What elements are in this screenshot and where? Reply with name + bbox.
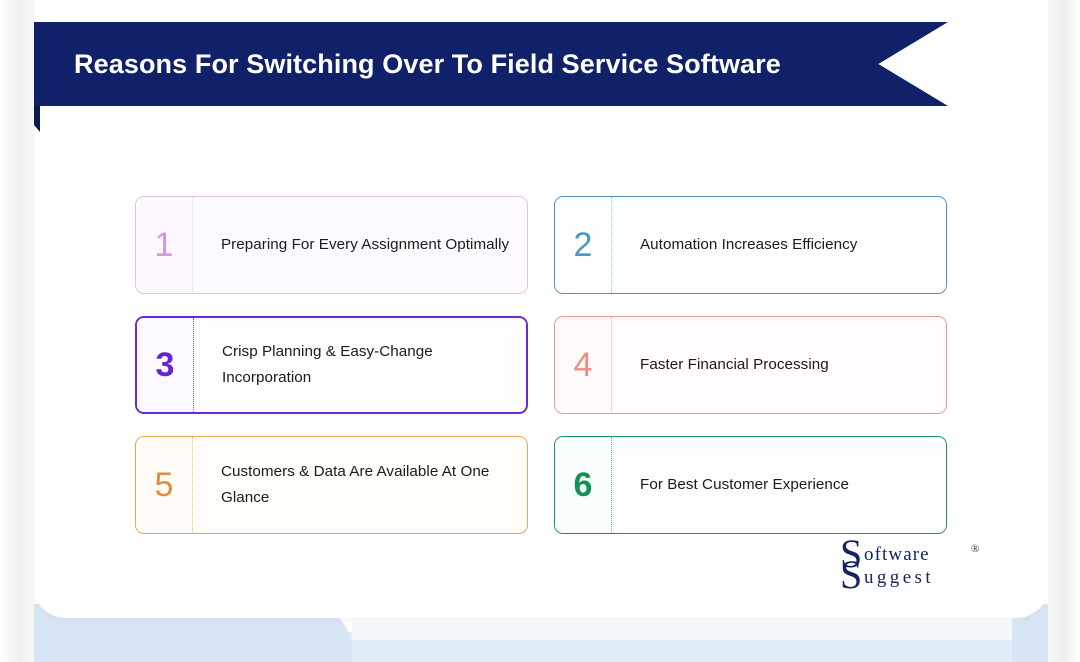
reason-number-4: 4 <box>574 348 593 382</box>
reason-number-2: 2 <box>574 228 593 262</box>
reason-number-cell-5: 5 <box>136 437 192 533</box>
reason-label-3: Crisp Planning & Easy-Change Incorporati… <box>222 339 512 391</box>
reason-label-cell-6: For Best Customer Experience <box>612 437 946 533</box>
infographic-stage: Reasons For Switching Over To Field Serv… <box>0 0 1080 662</box>
logo-cap-s-bottom: S <box>840 552 862 590</box>
reasons-grid: 1 Preparing For Every Assignment Optimal… <box>135 196 947 534</box>
header-ribbon: Reasons For Switching Over To Field Serv… <box>18 22 948 106</box>
logo-word-software: oftware <box>864 544 930 565</box>
reason-label-4: Faster Financial Processing <box>640 352 829 378</box>
reason-number-1: 1 <box>155 228 174 262</box>
reason-label-cell-5: Customers & Data Are Available At One Gl… <box>193 437 527 533</box>
reason-label-cell-4: Faster Financial Processing <box>612 317 946 413</box>
ribbon-banner: Reasons For Switching Over To Field Serv… <box>32 22 948 106</box>
reason-label-2: Automation Increases Efficiency <box>640 232 857 258</box>
reason-label-cell-1: Preparing For Every Assignment Optimally <box>193 197 527 293</box>
reason-number-3: 3 <box>156 348 175 382</box>
reason-card-3[interactable]: 3 Crisp Planning & Easy-Change Incorpora… <box>135 316 528 414</box>
logo-trademark-icon: ® <box>971 543 979 555</box>
reason-label-5: Customers & Data Are Available At One Gl… <box>221 459 513 511</box>
softwaresuggest-logo: S oftware ® S uggest <box>840 534 998 590</box>
page-edge-right <box>1048 0 1080 662</box>
reason-card-4[interactable]: 4 Faster Financial Processing <box>554 316 947 414</box>
reason-card-5[interactable]: 5 Customers & Data Are Available At One … <box>135 436 528 534</box>
main-card: Reasons For Switching Over To Field Serv… <box>32 0 1050 618</box>
reason-card-1[interactable]: 1 Preparing For Every Assignment Optimal… <box>135 196 528 294</box>
reason-card-2[interactable]: 2 Automation Increases Efficiency <box>554 196 947 294</box>
reason-label-cell-3: Crisp Planning & Easy-Change Incorporati… <box>194 318 526 412</box>
page-edge-left <box>0 0 34 662</box>
reason-number-6: 6 <box>574 468 593 502</box>
reason-number-5: 5 <box>155 468 174 502</box>
reason-label-6: For Best Customer Experience <box>640 472 849 498</box>
logo-icon: S oftware ® S uggest <box>840 534 998 590</box>
reason-label-cell-2: Automation Increases Efficiency <box>612 197 946 293</box>
page-title: Reasons For Switching Over To Field Serv… <box>32 49 781 80</box>
reason-number-cell-1: 1 <box>136 197 192 293</box>
reason-card-6[interactable]: 6 For Best Customer Experience <box>554 436 947 534</box>
reason-number-cell-2: 2 <box>555 197 611 293</box>
reason-number-cell-4: 4 <box>555 317 611 413</box>
reason-label-1: Preparing For Every Assignment Optimally <box>221 232 509 258</box>
reason-number-cell-6: 6 <box>555 437 611 533</box>
logo-word-suggest: uggest <box>864 567 934 588</box>
reason-number-cell-3: 3 <box>137 318 193 412</box>
